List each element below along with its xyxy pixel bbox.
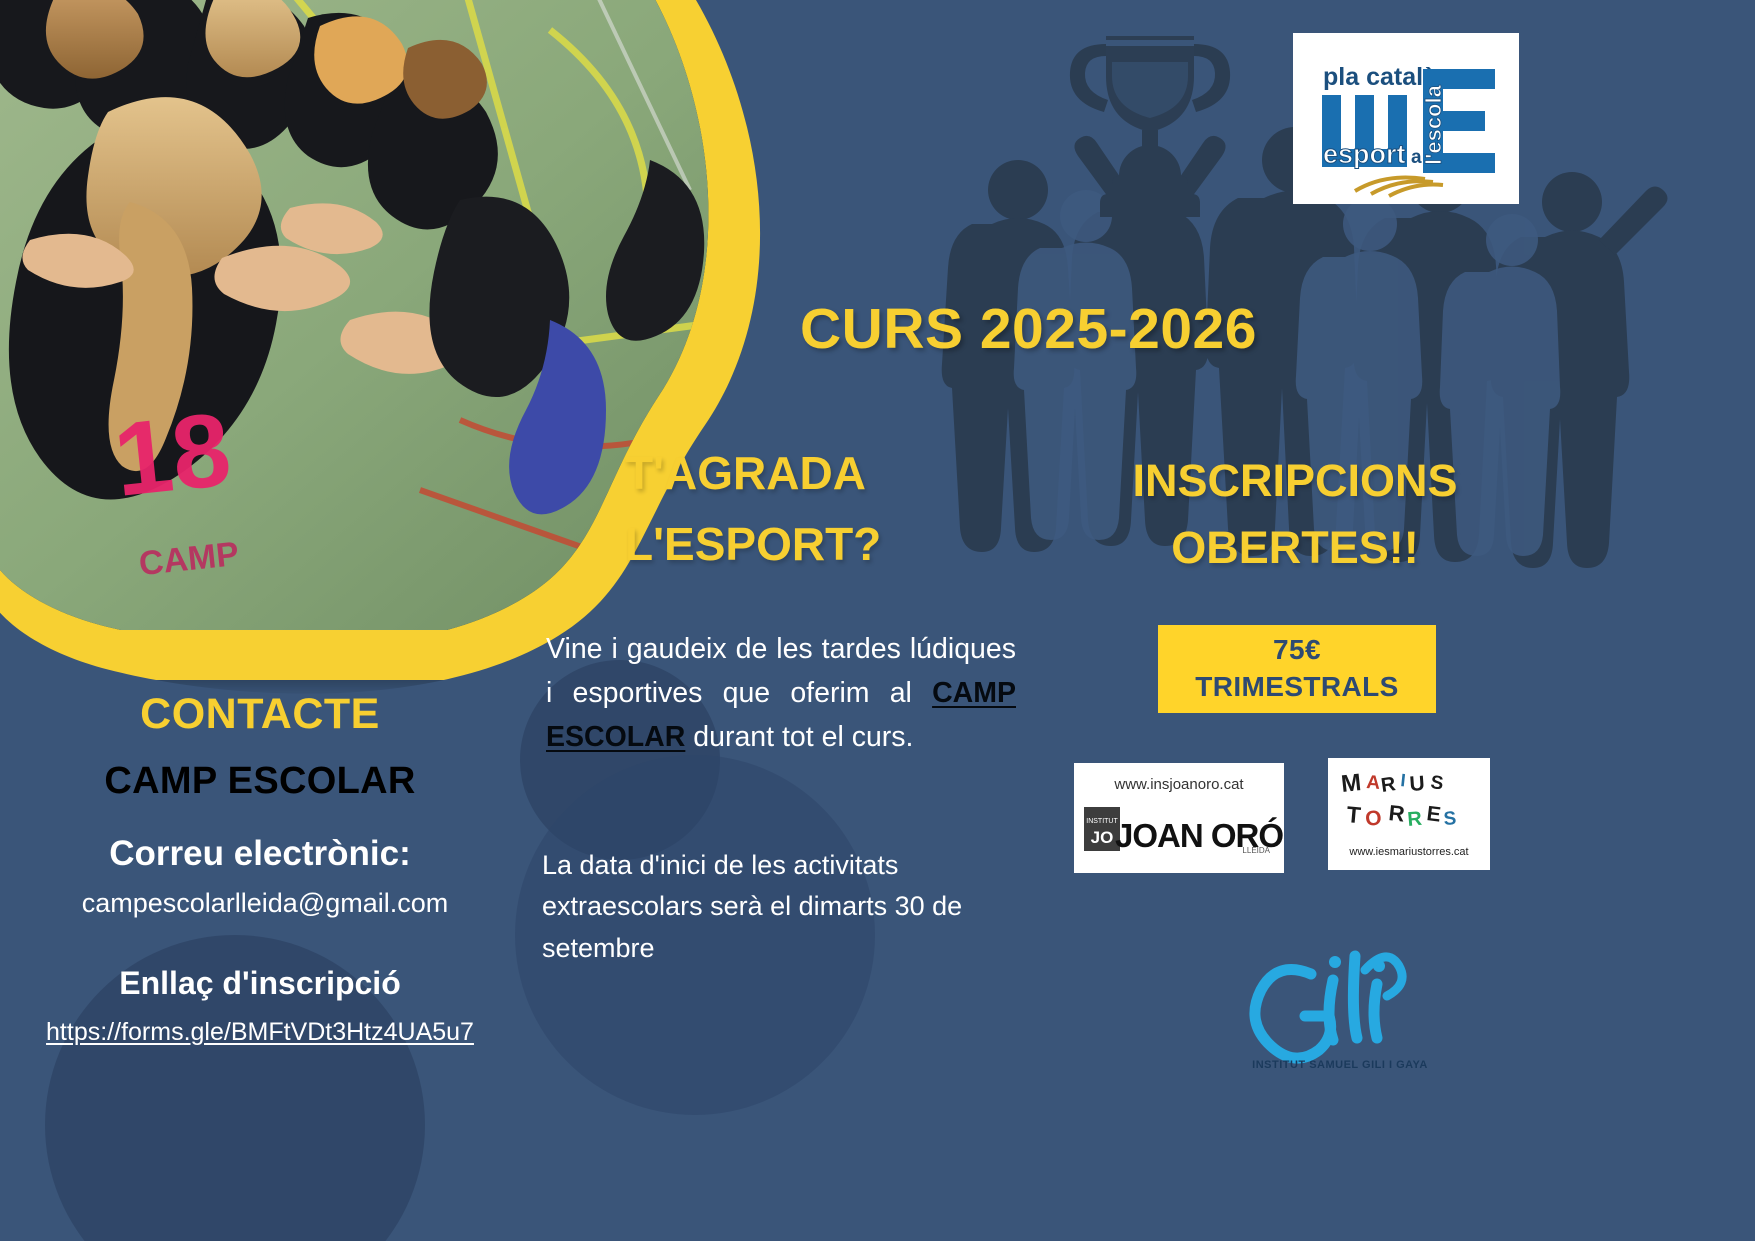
registration-link-url[interactable]: https://forms.gle/BMFtVDt3Htz4UA5u7 <box>0 1018 520 1047</box>
marius-torres-website: www.iesmariustorres.cat <box>1348 846 1468 858</box>
joan-oro-logo: www.insjoanoro.cat INSTITUT JO JOAN ORÓ … <box>1074 763 1284 873</box>
registration-heading-line2: OBERTES!! <box>1085 515 1505 582</box>
svg-text:T: T <box>1346 801 1362 828</box>
svg-text:18: 18 <box>109 391 236 518</box>
svg-text:U: U <box>1409 772 1426 796</box>
pla-catala-esport-escola-logo: pla català esport a l'escola <box>1293 33 1519 204</box>
intro-paragraph-part2: durant tot el curs. <box>685 721 913 753</box>
price-amount: 75€ <box>1273 632 1321 669</box>
marius-torres-logo: M A R I U S T O R R E S www.iesmariustor… <box>1328 758 1490 870</box>
price-badge: 75€ TRIMESTRALS <box>1158 625 1436 713</box>
question-heading-line1: T'AGRADA <box>625 438 1005 509</box>
course-year-heading: CURS 2025-2026 <box>800 296 1257 362</box>
lescola-text: l'escola <box>1421 84 1446 165</box>
contact-title: CONTACTE <box>0 690 520 739</box>
svg-text:S: S <box>1443 808 1457 830</box>
question-heading-line2: L'ESPORT? <box>625 509 1005 580</box>
esport-text: esport <box>1323 139 1406 169</box>
svg-text:JO: JO <box>1091 828 1114 847</box>
email-label: Correu electrònic: <box>0 834 520 874</box>
registration-link-label: Enllaç d'inscripció <box>0 965 520 1002</box>
joan-oro-city: LLEIDA <box>1242 846 1270 855</box>
start-date-notice: La data d'inici de les activitats extrae… <box>542 845 1017 969</box>
price-period: TRIMESTRALS <box>1195 669 1399 706</box>
svg-text:S: S <box>1429 772 1444 794</box>
contact-organisation: CAMP ESCOLAR <box>0 760 520 803</box>
gili-gaya-caption: INSTITUT SAMUEL GILI I GAYA <box>1252 1059 1428 1071</box>
joan-oro-badge: INSTITUT <box>1086 818 1118 825</box>
svg-text:E: E <box>1425 802 1442 827</box>
svg-text:R: R <box>1407 808 1424 831</box>
svg-text:R: R <box>1387 800 1406 827</box>
svg-text:M: M <box>1340 769 1363 798</box>
registration-heading-line1: INSCRIPCIONS <box>1085 448 1505 515</box>
svg-text:O: O <box>1364 806 1383 831</box>
gili-gaya-logo: INSTITUT SAMUEL GILI I GAYA <box>1215 940 1465 1080</box>
trophy-icon <box>1060 18 1240 238</box>
email-address[interactable]: campescolarlleida@gmail.com <box>0 888 530 919</box>
poster-canvas: 18 CAMP CURS 2025-2026 T'AGRADA L'ESPOR <box>0 0 1755 1241</box>
pla-catala-text: pla català <box>1323 63 1437 91</box>
question-heading: T'AGRADA L'ESPORT? <box>625 438 1005 581</box>
joan-oro-website: www.insjoanoro.cat <box>1113 776 1244 793</box>
registration-heading: INSCRIPCIONS OBERTES!! <box>1085 448 1505 581</box>
intro-paragraph: Vine i gaudeix de les tardes lúdiques i … <box>546 628 1016 760</box>
